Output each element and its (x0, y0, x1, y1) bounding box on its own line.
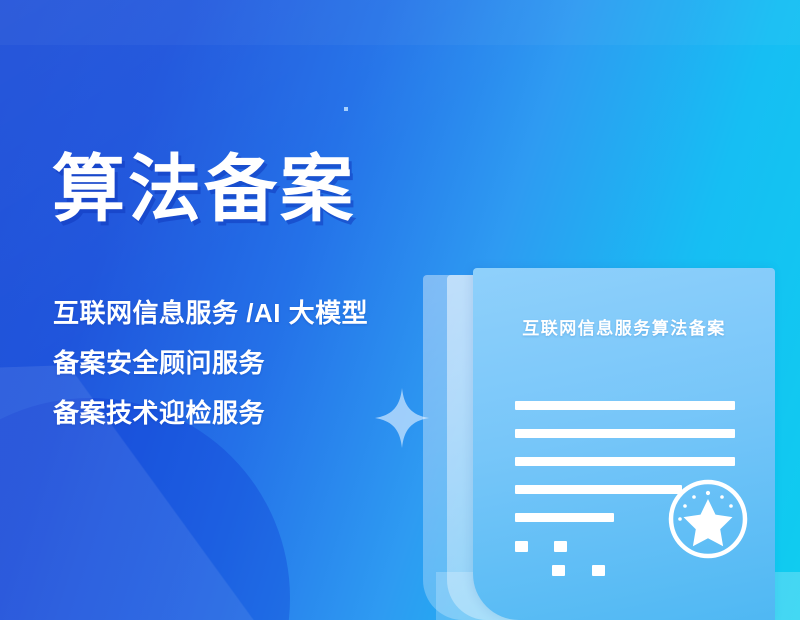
document-square-row (515, 565, 735, 576)
subtitle-line-2: 备案安全顾问服务 (53, 350, 453, 376)
document-card-stack: 互联网信息服务算法备案 (420, 262, 800, 620)
star-seal-icon (666, 477, 750, 561)
document-line (515, 401, 735, 410)
background-circle-shape (0, 398, 290, 620)
document-line (515, 485, 682, 494)
document-square (552, 565, 565, 576)
document-sheet-front: 互联网信息服务算法备案 (473, 268, 775, 620)
document-line (515, 513, 614, 522)
subtitle-line-3: 备案技术迎检服务 (53, 400, 453, 426)
page-title: 算法备案 (52, 152, 356, 228)
promo-banner: 算法备案 互联网信息服务 /AI 大模型 备案安全顾问服务 备案技术迎检服务 互… (0, 0, 800, 620)
document-square (592, 565, 605, 576)
document-square (554, 541, 567, 552)
document-line (515, 457, 735, 466)
subtitle-list: 互联网信息服务 /AI 大模型 备案安全顾问服务 备案技术迎检服务 (53, 300, 453, 426)
document-square (515, 541, 528, 552)
document-title: 互联网信息服务算法备案 (473, 314, 775, 339)
subtitle-line-1: 互联网信息服务 /AI 大模型 (53, 300, 453, 326)
small-speck-icon (344, 107, 348, 111)
document-line (515, 429, 735, 438)
top-highlight-band (0, 0, 800, 45)
